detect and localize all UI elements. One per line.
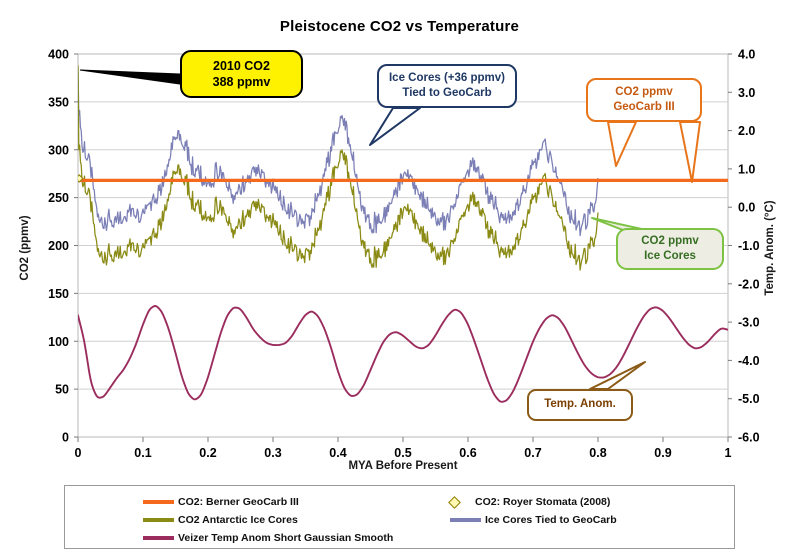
- right-tick-label: 4.0: [738, 48, 755, 62]
- legend-label-antarctic: CO2 Antarctic Ice Cores: [178, 514, 298, 526]
- left-tick-label: 300: [48, 143, 69, 157]
- legend-item-veizer: Veizer Temp Anom Short Gaussian Smooth: [65, 532, 420, 544]
- left-tick-marks: [74, 54, 78, 437]
- legend-swatch-line-icon: [143, 536, 174, 540]
- legend-swatch-line-icon: [143, 500, 174, 505]
- bottom-tick-label: 0.6: [459, 446, 476, 460]
- bottom-axis-title: MYA Before Present: [348, 460, 457, 472]
- callout-2010-co2: 2010 CO2 388 ppmv: [180, 50, 303, 98]
- callout-2010-co2-line1: 2010 CO2: [213, 58, 270, 75]
- left-tick-label: 350: [48, 95, 69, 109]
- callout-co2-geocarb-iii: CO2 ppmv GeoCarb III: [586, 78, 702, 122]
- left-tick-label: 250: [48, 191, 69, 205]
- callout-co2-ice-cores-line2: Ice Cores: [644, 249, 696, 264]
- legend-swatch-line-icon: [450, 518, 481, 522]
- callout-ice-cores-geocarb-line2: Tied to GeoCarb: [402, 86, 491, 101]
- left-tick-label: 100: [48, 335, 69, 349]
- chart-legend: CO2: Berner GeoCarb III CO2: Royer Stoma…: [64, 485, 735, 549]
- bottom-tick-label: 0.4: [329, 446, 346, 460]
- legend-item-stomata: CO2: Royer Stomata (2008): [420, 496, 610, 508]
- right-axis-title: Temp. Anom. (°C): [764, 200, 776, 295]
- legend-label-geocarb: CO2: Berner GeoCarb III: [178, 496, 299, 508]
- legend-row: Veizer Temp Anom Short Gaussian Smooth: [65, 529, 734, 547]
- plot-area: 0501001502002503003504004.03.02.01.00.0-…: [0, 0, 799, 480]
- right-tick-label: -1.0: [738, 239, 760, 253]
- bottom-tick-label: 0.3: [264, 446, 281, 460]
- legend-item-geocarb: CO2: Berner GeoCarb III: [65, 496, 420, 508]
- right-tick-label: -2.0: [738, 277, 760, 291]
- right-tick-label: -3.0: [738, 316, 760, 330]
- right-tick-label: 2.0: [738, 124, 755, 138]
- bottom-tick-label: 1: [725, 446, 732, 460]
- left-tick-label: 200: [48, 239, 69, 253]
- bottom-tick-marks: [78, 437, 728, 442]
- callout-co2-geocarb-iii-line2: GeoCarb III: [613, 100, 674, 115]
- left-tick-label: 0: [62, 431, 69, 445]
- callout-ice-cores-geocarb-line1: Ice Cores (+36 ppmv): [389, 71, 505, 86]
- chart-root: Pleistocene CO2 vs Temperature: [0, 0, 799, 558]
- legend-label-stomata: CO2: Royer Stomata (2008): [475, 496, 610, 508]
- right-tick-label: -6.0: [738, 431, 760, 445]
- callout-co2-geocarb-iii-line1: CO2 ppmv: [615, 85, 673, 100]
- bottom-tick-label: 0.1: [134, 446, 151, 460]
- bottom-tick-label: 0.7: [524, 446, 541, 460]
- legend-label-veizer: Veizer Temp Anom Short Gaussian Smooth: [178, 532, 393, 544]
- callout-2010-co2-line2: 388 ppmv: [213, 74, 271, 91]
- left-axis-title: CO2 (ppmv): [19, 215, 31, 280]
- callout-co2-ice-cores: CO2 ppmv Ice Cores: [616, 228, 724, 270]
- legend-item-tied: Ice Cores Tied to GeoCarb: [420, 514, 617, 526]
- right-tick-label: 1.0: [738, 162, 755, 176]
- left-tick-label: 400: [48, 48, 69, 62]
- left-tick-label: 150: [48, 287, 69, 301]
- callout-temp-anom-line1: Temp. Anom.: [544, 397, 616, 412]
- legend-label-tied: Ice Cores Tied to GeoCarb: [485, 514, 617, 526]
- callout-temp-anom: Temp. Anom.: [527, 389, 633, 421]
- bottom-tick-label: 0.2: [199, 446, 216, 460]
- bottom-tick-label: 0.9: [654, 446, 671, 460]
- right-tick-label: -4.0: [738, 354, 760, 368]
- right-tick-marks: [728, 54, 732, 437]
- right-tick-label: -5.0: [738, 392, 760, 406]
- legend-diamond-icon: [448, 496, 461, 509]
- bottom-tick-label: 0: [75, 446, 82, 460]
- right-tick-label: 0.0: [738, 201, 755, 215]
- right-tick-label: 3.0: [738, 86, 755, 100]
- bottom-tick-label: 0.8: [589, 446, 606, 460]
- bottom-tick-label: 0.5: [394, 446, 411, 460]
- legend-row: CO2: Berner GeoCarb III CO2: Royer Stoma…: [65, 493, 734, 511]
- callout-ice-cores-geocarb: Ice Cores (+36 ppmv) Tied to GeoCarb: [377, 64, 517, 108]
- left-tick-label: 50: [55, 383, 69, 397]
- legend-item-antarctic: CO2 Antarctic Ice Cores: [65, 514, 420, 526]
- legend-swatch-line-icon: [143, 518, 174, 522]
- legend-row: CO2 Antarctic Ice Cores Ice Cores Tied t…: [65, 511, 734, 529]
- callout-co2-ice-cores-line1: CO2 ppmv: [641, 234, 699, 249]
